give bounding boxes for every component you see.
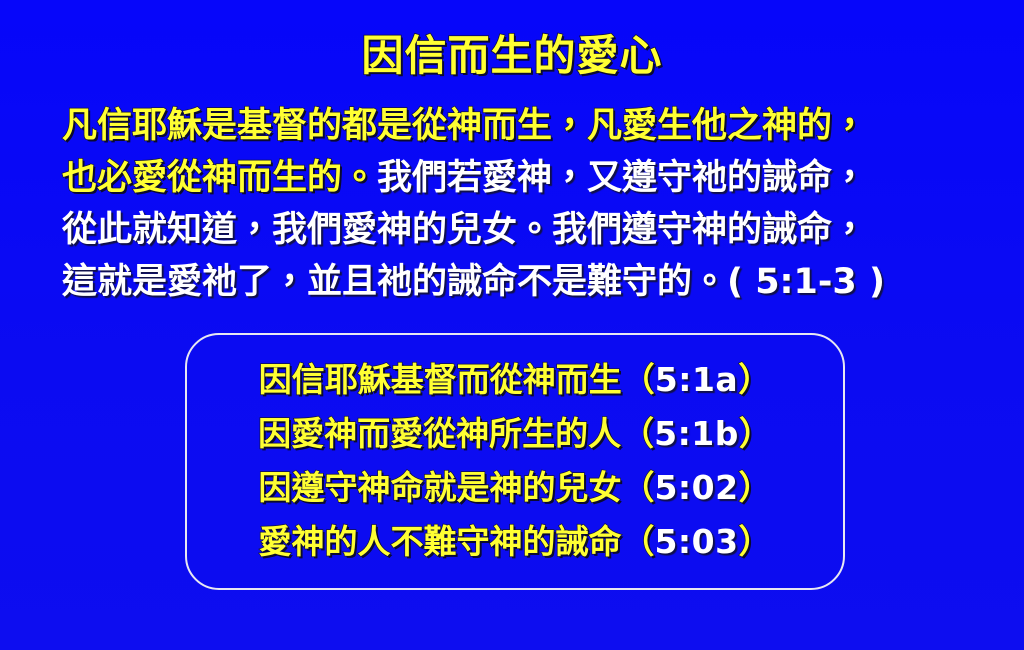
- scripture-passage: 凡信耶穌是基督的都是從神而生，凡愛生他之神的， 也必愛從神而生的。我們若愛神，又…: [62, 100, 964, 308]
- key-point-item: 因愛神而愛從神所生的人（5:1b）: [258, 407, 772, 461]
- scripture-line: 凡信耶穌是基督的都是從神而生，凡愛生他之神的，: [62, 100, 964, 152]
- scripture-segment: 這就是愛祂了，並且祂的誡命不是難守的。: [62, 262, 727, 302]
- key-point-text: 愛神的人不難守神的誡命: [258, 522, 621, 561]
- key-point-reference: 5:1b: [654, 414, 739, 453]
- presentation-slide: 因信而生的愛心 凡信耶穌是基督的都是從神而生，凡愛生他之神的， 也必愛從神而生的…: [0, 0, 1024, 650]
- scripture-segment: 也必愛從神而生的。: [62, 158, 377, 198]
- key-points-box: 因信耶穌基督而從神而生（5:1a） 因愛神而愛從神所生的人（5:1b） 因遵守神…: [185, 333, 845, 590]
- scripture-line: 也必愛從神而生的。我們若愛神，又遵守祂的誡命，: [62, 152, 964, 204]
- key-point-item: 因信耶穌基督而從神而生（5:1a）: [259, 353, 771, 407]
- scripture-segment: 從此就知道，我們愛神的兒女。我們遵守神的誡命，: [62, 210, 867, 250]
- key-point-reference: 5:1a: [655, 360, 738, 399]
- scripture-reference: ( 5:1-3 ): [727, 262, 885, 302]
- key-point-item: 愛神的人不難守神的誡命（5:03）: [258, 515, 771, 569]
- key-point-reference: 5:03: [654, 522, 738, 561]
- key-point-reference: 5:02: [654, 468, 738, 507]
- key-point-open-paren: （: [621, 414, 654, 453]
- key-point-open-paren: （: [622, 360, 655, 399]
- scripture-segment: 我們若愛神，又遵守祂的誡命，: [377, 158, 867, 198]
- key-point-text: 因信耶穌基督而從神而生: [259, 360, 622, 399]
- key-point-close-paren: ）: [738, 360, 771, 399]
- scripture-segment: 凡信耶穌是基督的都是從神而生，凡愛生他之神的，: [62, 106, 867, 146]
- key-point-text: 因遵守神命就是神的兒女: [258, 468, 621, 507]
- key-point-close-paren: ）: [739, 522, 772, 561]
- key-point-open-paren: （: [621, 468, 654, 507]
- scripture-line: 這就是愛祂了，並且祂的誡命不是難守的。( 5:1-3 ): [62, 256, 964, 308]
- key-point-text: 因愛神而愛從神所生的人: [258, 414, 621, 453]
- key-point-open-paren: （: [621, 522, 654, 561]
- slide-title: 因信而生的愛心: [0, 32, 1024, 80]
- key-point-close-paren: ）: [739, 468, 772, 507]
- key-point-close-paren: ）: [739, 414, 772, 453]
- scripture-line: 從此就知道，我們愛神的兒女。我們遵守神的誡命，: [62, 204, 964, 256]
- key-point-item: 因遵守神命就是神的兒女（5:02）: [258, 461, 771, 515]
